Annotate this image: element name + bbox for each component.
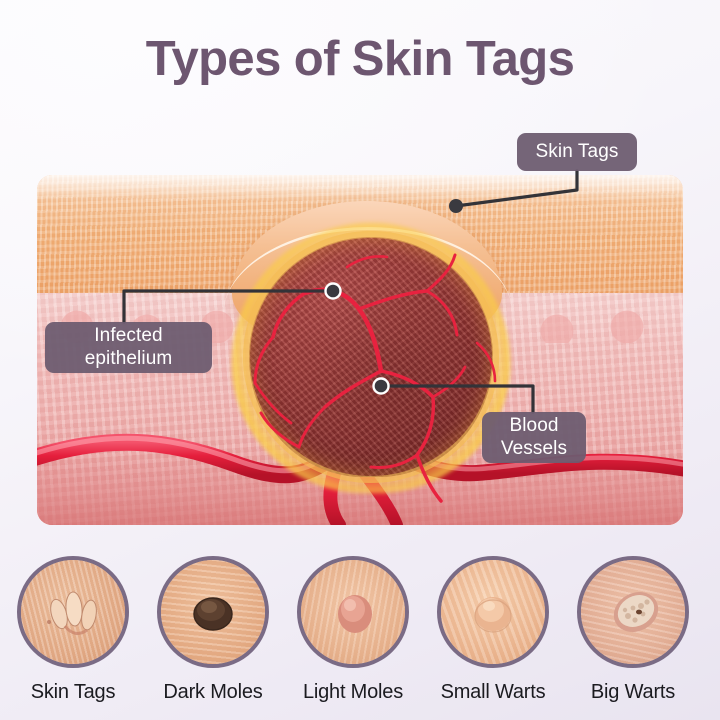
- thumbnail-image-light-moles: [297, 556, 409, 668]
- gallery-item-big-warts[interactable]: Big Warts: [577, 556, 689, 704]
- callout-label-infected-epithelium[interactable]: Infected epithelium: [45, 322, 212, 373]
- lesion-big-wart: [581, 560, 685, 664]
- lesion-skin-tags: [21, 560, 125, 664]
- page-header: Types of Skin Tags: [0, 34, 720, 85]
- thumbnail-image-small-warts: [437, 556, 549, 668]
- gallery-item-small-warts[interactable]: Small Warts: [437, 556, 549, 704]
- callout-label-blood-vessels[interactable]: Blood Vessels: [482, 412, 586, 463]
- thumbnail-image-skin-tags: [17, 556, 129, 668]
- callout-label-infected-epithelium-text: Infected epithelium: [85, 325, 173, 370]
- thumbnail-image-dark-moles: [157, 556, 269, 668]
- gallery-caption-light-moles: Light Moles: [297, 681, 409, 704]
- gallery-item-skin-tags[interactable]: Skin Tags: [17, 556, 129, 704]
- callout-label-skin-tags-text: Skin Tags: [536, 141, 619, 163]
- lesion-dark-mole: [161, 560, 265, 664]
- lesion-light-mole: [301, 560, 405, 664]
- lesion-small-wart: [441, 560, 545, 664]
- gallery-caption-big-warts: Big Warts: [577, 681, 689, 704]
- thumbnail-image-big-warts: [577, 556, 689, 668]
- gallery-item-dark-moles[interactable]: Dark Moles: [157, 556, 269, 704]
- gallery-caption-small-warts: Small Warts: [437, 681, 549, 704]
- skin-tag-types-gallery: Skin Tags Dark Moles Light Moles: [0, 552, 720, 720]
- callout-label-blood-vessels-text: Blood Vessels: [501, 415, 567, 460]
- gallery-caption-skin-tags: Skin Tags: [17, 681, 129, 704]
- gallery-item-light-moles[interactable]: Light Moles: [297, 556, 409, 704]
- page-title: Types of Skin Tags: [0, 34, 720, 85]
- callout-label-skin-tags[interactable]: Skin Tags: [517, 133, 637, 171]
- gallery-caption-dark-moles: Dark Moles: [157, 681, 269, 704]
